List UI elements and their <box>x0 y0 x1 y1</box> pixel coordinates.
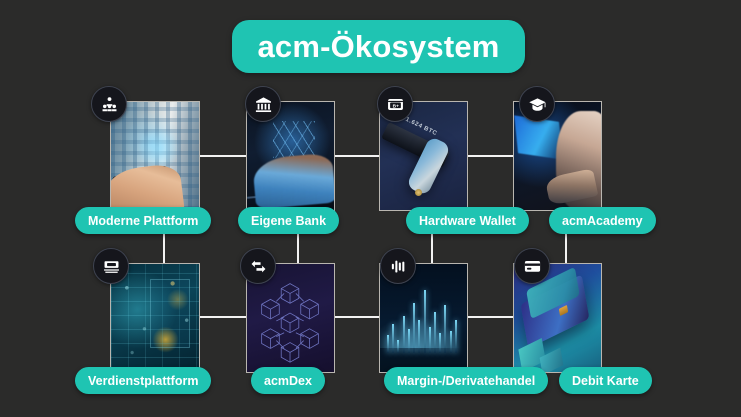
svg-text:B+: B+ <box>392 103 398 109</box>
label-text-eigene-bank: Eigene Bank <box>251 214 326 228</box>
money-cash-icon <box>93 248 129 284</box>
connector-r2-c3-c4 <box>468 316 513 318</box>
chart-bars-icon <box>380 248 416 284</box>
connector-r1-c1-c2 <box>200 155 246 157</box>
label-acm-academy: acmAcademy <box>549 207 656 234</box>
connector-r1-c2-c3 <box>335 155 379 157</box>
label-text-hardware-wallet: Hardware Wallet <box>419 214 516 228</box>
label-moderne-plattform: Moderne Plattform <box>75 207 211 234</box>
page-title: acm-Ökosystem <box>257 29 499 65</box>
page-title-badge: acm-Ökosystem <box>232 20 525 73</box>
label-verdienstplattform: Verdienstplattform <box>75 367 211 394</box>
label-debit-karte: Debit Karte <box>559 367 652 394</box>
hardware-device-icon: B+ <box>377 86 413 122</box>
card-moderne-plattform[interactable] <box>110 101 200 211</box>
credit-card-icon <box>514 248 550 284</box>
people-group-icon <box>91 86 127 122</box>
label-eigene-bank: Eigene Bank <box>238 207 339 234</box>
exchange-arrows-icon <box>240 248 276 284</box>
label-text-margin-derivatehandel: Margin-/Derivatehandel <box>397 374 535 388</box>
card-verdienstplattform[interactable] <box>110 263 200 373</box>
label-text-acm-academy: acmAcademy <box>562 214 643 228</box>
graduation-cap-icon <box>519 86 555 122</box>
card-image-moderne-plattform <box>111 102 199 210</box>
label-text-moderne-plattform: Moderne Plattform <box>88 214 198 228</box>
label-hardware-wallet: Hardware Wallet <box>406 207 529 234</box>
card-image-verdienstplattform <box>111 264 199 372</box>
label-text-verdienstplattform: Verdienstplattform <box>88 374 198 388</box>
label-text-acm-dex: acmDex <box>264 374 312 388</box>
connector-r1-c3-c4 <box>468 155 513 157</box>
label-text-debit-karte: Debit Karte <box>572 374 639 388</box>
bank-building-icon <box>245 86 281 122</box>
connector-r2-c2-c3 <box>335 316 379 318</box>
label-acm-dex: acmDex <box>251 367 325 394</box>
label-margin-derivatehandel: Margin-/Derivatehandel <box>384 367 548 394</box>
ecosystem-infographic: acm-Ökosystem Moderne Plattform <box>0 0 741 417</box>
connector-r2-c1-c2 <box>200 316 246 318</box>
